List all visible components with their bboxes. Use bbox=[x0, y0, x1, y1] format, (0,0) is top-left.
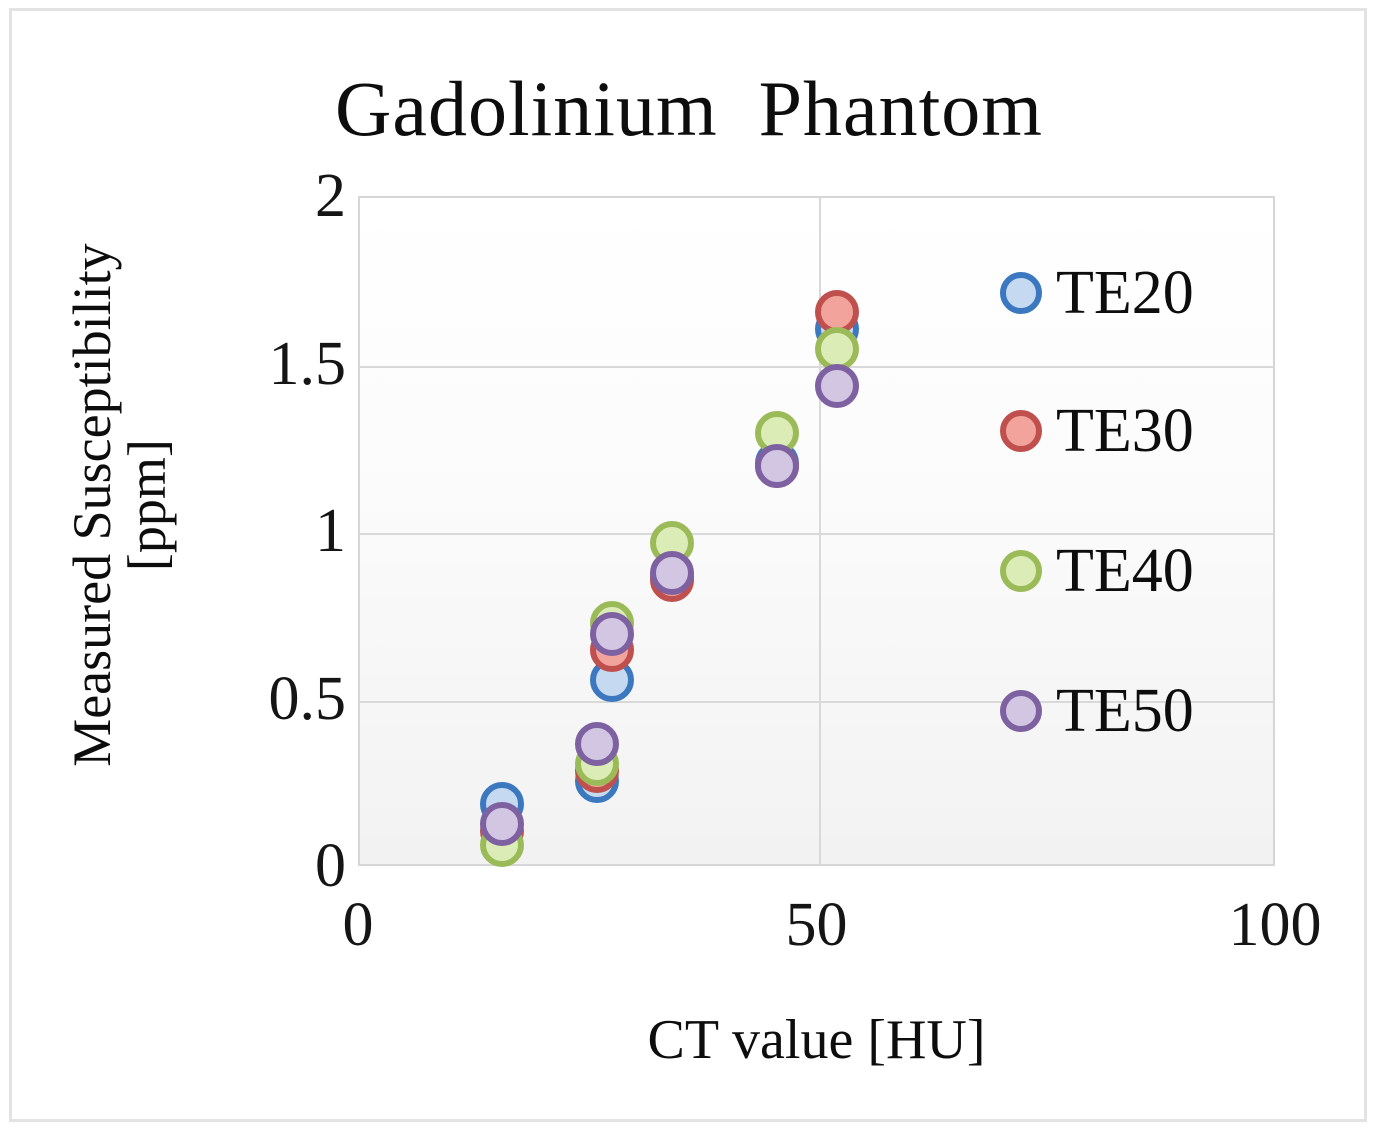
chart-page: Gadolinium Phantom 00.511.52 050100 Meas… bbox=[0, 0, 1378, 1132]
y-axis-tick-label: 2 bbox=[315, 165, 346, 227]
y-axis-tick-label: 1 bbox=[315, 500, 346, 562]
data-point-te50 bbox=[755, 444, 799, 488]
legend-label: TE50 bbox=[1056, 680, 1194, 742]
chart-title: Gadolinium Phantom bbox=[0, 70, 1378, 148]
legend-entry-te50[interactable]: TE50 bbox=[1000, 680, 1194, 742]
legend-marker-icon bbox=[1000, 550, 1042, 592]
legend-marker-icon bbox=[1000, 410, 1042, 452]
y-axis-tick-label: 0.5 bbox=[269, 668, 347, 730]
x-axis-tick-label: 100 bbox=[1229, 894, 1322, 956]
gridline-horizontal bbox=[360, 533, 1273, 535]
legend-marker-icon bbox=[1000, 690, 1042, 732]
legend-entry-te30[interactable]: TE30 bbox=[1000, 400, 1194, 462]
x-axis-tick-label: 0 bbox=[343, 894, 374, 956]
data-point-te50 bbox=[650, 551, 694, 595]
legend-marker-icon bbox=[1000, 272, 1042, 314]
y-axis-tick-label: 0 bbox=[315, 835, 346, 897]
legend-entry-te40[interactable]: TE40 bbox=[1000, 540, 1194, 602]
y-axis-title: Measured Susceptibility [ppm] bbox=[65, 155, 175, 855]
gridline-horizontal bbox=[360, 366, 1273, 368]
legend-label: TE30 bbox=[1056, 400, 1194, 462]
legend-label: TE40 bbox=[1056, 540, 1194, 602]
legend-entry-te20[interactable]: TE20 bbox=[1000, 262, 1194, 324]
y-axis-title-line2: [ppm] bbox=[120, 155, 175, 855]
x-axis-tick-label: 50 bbox=[786, 894, 848, 956]
data-point-te50 bbox=[590, 612, 634, 656]
data-point-te50 bbox=[575, 722, 619, 766]
x-axis-title: CT value [HU] bbox=[358, 1012, 1275, 1068]
legend-label: TE20 bbox=[1056, 262, 1194, 324]
y-axis-tick-label: 1.5 bbox=[269, 333, 347, 395]
data-point-te50 bbox=[815, 364, 859, 408]
y-axis-title-line1: Measured Susceptibility bbox=[62, 243, 122, 766]
